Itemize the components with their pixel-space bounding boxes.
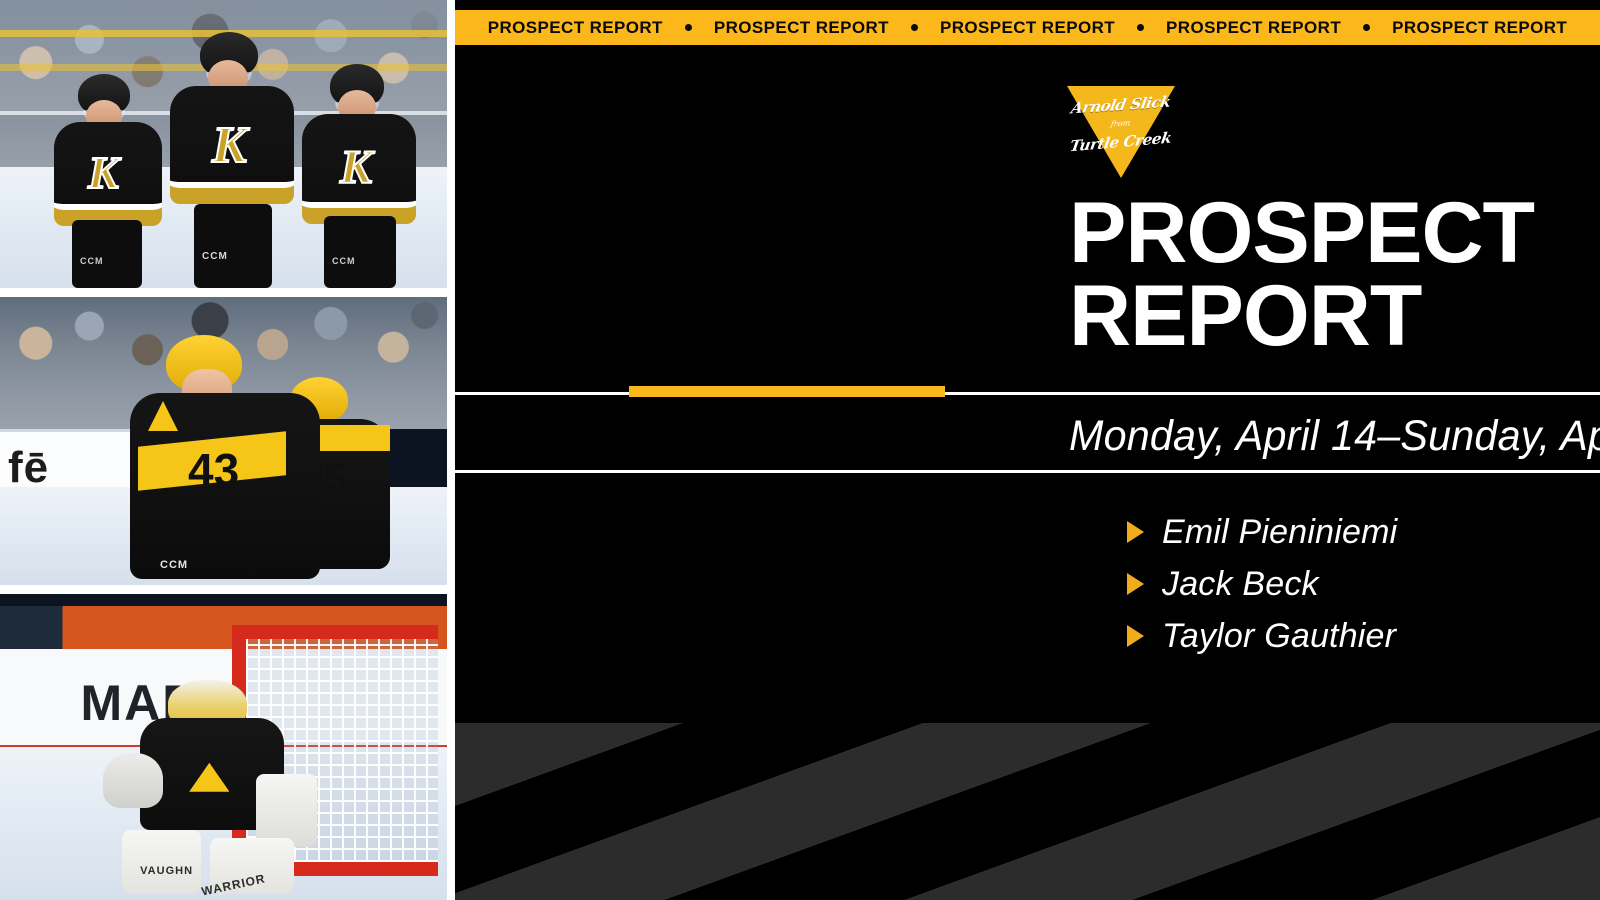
- ticker-bullet-dot: [685, 24, 692, 31]
- player-legs: [324, 216, 396, 288]
- team-crest-k: K: [212, 116, 247, 175]
- ccm-brand-label: CCM: [160, 559, 188, 571]
- player-name: Jack Beck: [1162, 565, 1319, 604]
- jersey-number: 43: [188, 443, 239, 497]
- player-43: 43 CCM: [130, 335, 320, 585]
- photo-column: K CCM K CCM K CCM: [0, 0, 447, 900]
- player-legs: [194, 204, 272, 288]
- ticker-bullet-dot: [911, 24, 918, 31]
- ccm-brand-label: CCM: [202, 251, 228, 262]
- divider-rule-top: [455, 392, 1600, 395]
- list-item[interactable]: Taylor Gauthier: [1127, 616, 1397, 656]
- photo-celebration: K CCM K CCM K CCM: [0, 0, 447, 288]
- skater-left: K CCM: [52, 74, 164, 288]
- list-item[interactable]: Jack Beck: [1127, 564, 1397, 604]
- prospect-report-graphic: K CCM K CCM K CCM: [0, 0, 1600, 900]
- penguins-logo: [189, 763, 229, 792]
- player-name: Emil Pieniniemi: [1162, 513, 1397, 552]
- triangle-bullet-icon: [1127, 521, 1144, 543]
- goaltender: VAUGHN WARRIOR: [98, 680, 330, 894]
- player-name: Taylor Gauthier: [1162, 617, 1396, 656]
- team-crest-k: K: [88, 146, 119, 199]
- ccm-brand-label: CCM: [80, 256, 104, 266]
- ccm-brand-label: CCM: [332, 256, 356, 266]
- skater-center: K CCM: [168, 32, 296, 288]
- vaughn-brand-label: VAUGHN: [140, 865, 193, 877]
- ticker-bullet-dot: [1363, 24, 1370, 31]
- ticker-item: PROSPECT REPORT: [1392, 18, 1567, 38]
- logo-line-2: from: [1110, 119, 1131, 129]
- goalie-blocker: [256, 774, 316, 847]
- page-title-line-2: REPORT: [1069, 275, 1589, 358]
- diagonal-stripe-pattern: [455, 723, 1600, 900]
- prospect-report-ticker: PROSPECT REPORT PROSPECT REPORT PROSPECT…: [455, 10, 1600, 45]
- photo-forwards: fē 85 43 CCM: [0, 297, 447, 585]
- ticker-item: PROSPECT REPORT: [488, 18, 663, 38]
- triangle-bullet-icon: [1127, 573, 1144, 595]
- list-item[interactable]: Emil Pieniniemi: [1127, 512, 1397, 552]
- ticker-item: PROSPECT REPORT: [1166, 18, 1341, 38]
- triangle-bullet-icon: [1127, 625, 1144, 647]
- date-range: Monday, April 14–Sunday, April 20, 2025: [1069, 407, 1600, 465]
- player-legs: [72, 220, 142, 288]
- ticker-item: PROSPECT REPORT: [714, 18, 889, 38]
- divider-rule-bottom: [455, 470, 1600, 473]
- board-ad-text: fē: [8, 443, 49, 493]
- ticker-item: PROSPECT REPORT: [940, 18, 1115, 38]
- skater-right: K CCM: [302, 64, 418, 288]
- goalie-catching-glove: [103, 753, 163, 809]
- logo-script-text: Arnold Slick from Turtle Creek: [1067, 86, 1175, 178]
- player-list: Emil Pieniniemi Jack Beck Taylor Gauthie…: [1127, 512, 1397, 656]
- report-panel: PROSPECT REPORT PROSPECT REPORT PROSPECT…: [455, 0, 1600, 900]
- team-crest-k: K: [340, 140, 372, 195]
- ticker-inner: PROSPECT REPORT PROSPECT REPORT PROSPECT…: [488, 18, 1567, 38]
- accent-bar: [629, 386, 945, 397]
- logo-line-3: Turtle Creek: [1069, 129, 1173, 156]
- ticker-bullet-dot: [1137, 24, 1144, 31]
- logo-line-1: Arnold Slick: [1070, 93, 1172, 118]
- page-title: PROSPECT REPORT: [1069, 192, 1589, 357]
- goalie-left-pad: [122, 830, 201, 894]
- page-title-line-1: PROSPECT: [1069, 192, 1589, 275]
- photo-goalie: MARK VAUGHN WARRIOR: [0, 594, 447, 900]
- triangle-logo: Arnold Slick from Turtle Creek: [1067, 86, 1175, 178]
